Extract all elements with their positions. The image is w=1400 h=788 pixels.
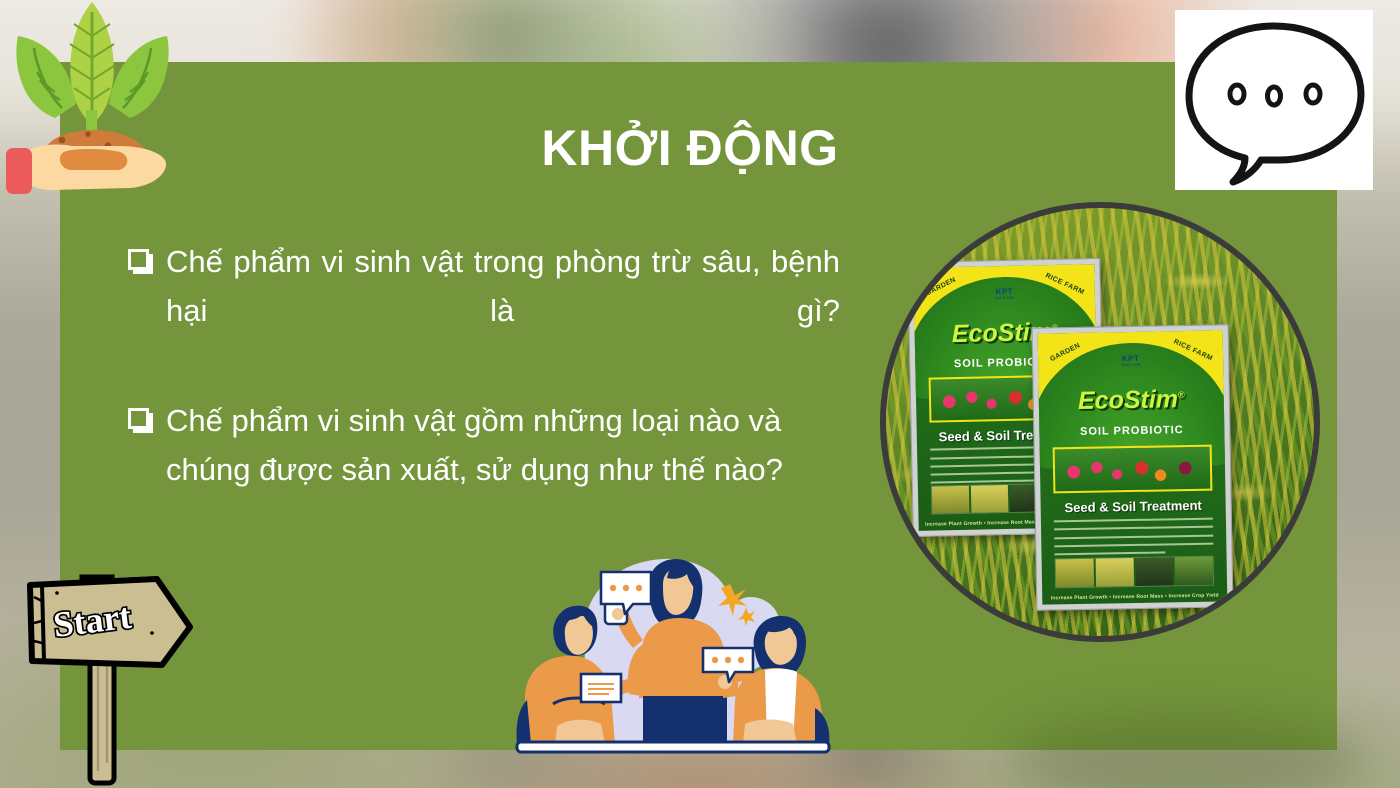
packet-produce-photo	[1053, 444, 1213, 493]
packet-body-text	[1054, 518, 1214, 556]
kpt-logo-icon: KPT SINCE 1996	[994, 287, 1014, 300]
start-sign[interactable]: Start	[12, 565, 212, 788]
kpt-logo-icon: KPT SINCE 1996	[1121, 354, 1141, 367]
kpt-logo-text: KPT	[994, 287, 1014, 296]
list-item-label: Chế phẩm vi sinh vật gồm những loại nào …	[154, 397, 840, 495]
product-photo-circle: GARDEN RICE FARM KPT SINCE 1996 EcoStim®…	[880, 202, 1320, 642]
list-item: Chế phẩm vi sinh vật trong phòng trừ sâu…	[128, 238, 840, 385]
list-item-label: Chế phẩm vi sinh vật trong phòng trừ sâu…	[154, 238, 840, 385]
document-card-icon	[581, 674, 621, 702]
packet-crop-strip	[1055, 556, 1215, 589]
question-list: Chế phẩm vi sinh vật trong phòng trừ sâu…	[128, 238, 840, 507]
packet-brand-name: EcoStim®	[1078, 385, 1185, 416]
square-bullet-icon	[128, 408, 154, 438]
page-title: KHỞI ĐỘNG	[300, 122, 1080, 175]
slide-root: KHỞI ĐỘNG Chế phẩm vi sinh vật trong phò…	[0, 0, 1400, 788]
kpt-logo-sub: SINCE 1996	[994, 296, 1014, 300]
plant-in-hand-icon	[0, 0, 185, 200]
kpt-logo-text: KPT	[1121, 354, 1141, 363]
square-bullet-icon	[128, 249, 154, 279]
list-item: Chế phẩm vi sinh vật gồm những loại nào …	[128, 397, 840, 495]
people-discussion-illustration	[497, 548, 847, 760]
packet-subtitle: SOIL PROBIOTIC	[1080, 425, 1184, 439]
packet-headline: Seed & Soil Treatment	[1064, 497, 1202, 514]
speech-bubble-card	[1175, 10, 1373, 190]
circle-drop-shadow	[1005, 712, 1365, 788]
ecostim-packet-front: GARDEN RICE FARM KPT SINCE 1996 EcoStim®…	[1032, 324, 1234, 610]
kpt-logo-sub: SINCE 1996	[1121, 363, 1141, 367]
packet-footer: Increase Plant Growth • Increase Root Ma…	[1042, 593, 1227, 602]
